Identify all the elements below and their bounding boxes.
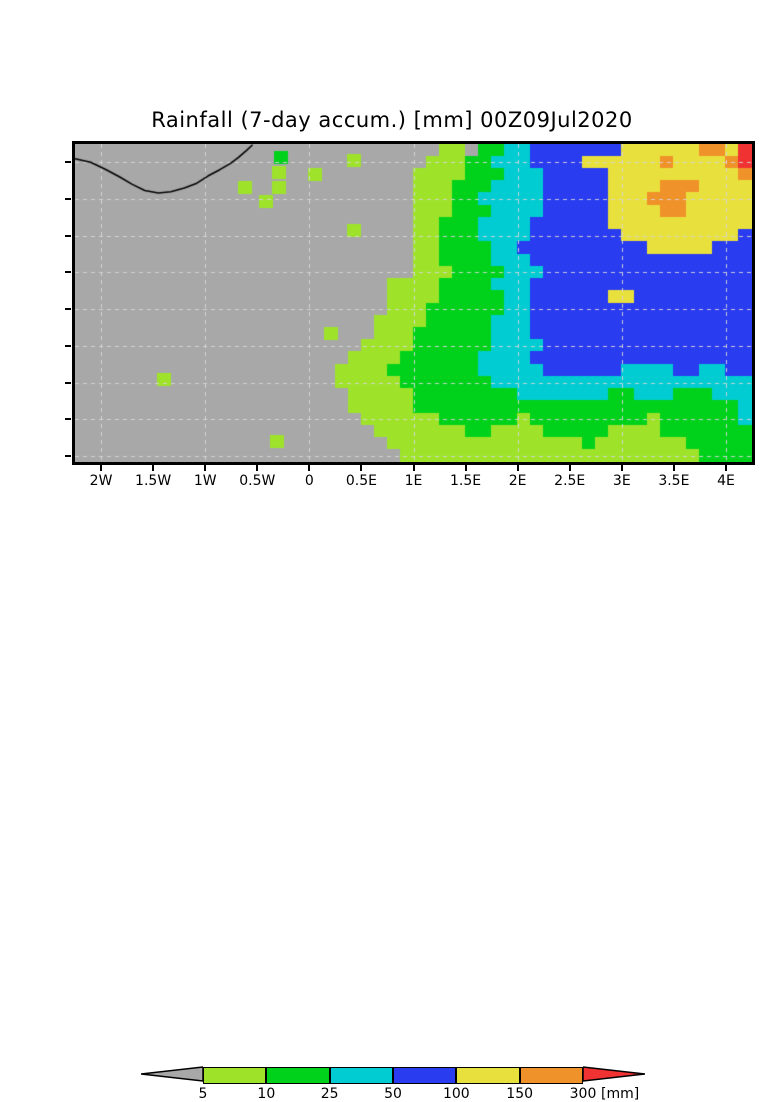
x-axis-tick-label: 0.5W <box>239 473 275 489</box>
x-axis-tick-label: 1E <box>405 473 423 489</box>
colorbar-tick-label: 100 <box>443 1086 470 1102</box>
x-axis-tick-mark <box>413 465 415 471</box>
x-axis-tick-mark <box>673 465 675 471</box>
x-axis-tick-label: 1W <box>194 473 217 489</box>
colorbar-tick-label: 300 <box>570 1086 597 1102</box>
x-axis-tick-label: 1.5E <box>450 473 481 489</box>
x-axis-tick-label: 1.5W <box>135 473 171 489</box>
x-axis-tick-label: 4E <box>717 473 735 489</box>
x-axis-tick-label: 2W <box>90 473 113 489</box>
x-axis-tick-mark <box>517 465 519 471</box>
rainfall-map-figure: Rainfall (7-day accum.) [mm] 00Z09Jul202… <box>0 0 784 612</box>
x-axis-tick-label: 2.5E <box>554 473 585 489</box>
x-axis-tick-mark <box>100 465 102 471</box>
colorbar-segment <box>520 1067 583 1084</box>
colorbar-segment <box>393 1067 456 1084</box>
colorbar-tick-label: 50 <box>384 1086 402 1102</box>
colorbar: [mm] 5102550100150300 <box>0 528 784 588</box>
colorbar-segment <box>266 1067 329 1084</box>
x-axis-tick-mark <box>256 465 258 471</box>
colorbar-tick-label: 10 <box>257 1086 275 1102</box>
x-axis-tick-mark <box>621 465 623 471</box>
x-axis-tick-mark <box>152 465 154 471</box>
x-axis-tick-mark <box>204 465 206 471</box>
x-axis-tick-label: 3E <box>613 473 631 489</box>
colorbar-segment <box>330 1067 393 1084</box>
x-axis-tick-mark <box>465 465 467 471</box>
colorbar-tick-label: 25 <box>321 1086 339 1102</box>
colorbar-segment <box>456 1067 519 1084</box>
x-axis-tick-mark <box>569 465 571 471</box>
x-axis-tick-mark <box>308 465 310 471</box>
colorbar-segment <box>203 1067 266 1084</box>
x-axis-tick-label: 0 <box>305 473 314 489</box>
colorbar-over-arrow <box>583 1061 645 1087</box>
colorbar-unit-label: [mm] <box>601 1086 639 1102</box>
x-axis-longitude-ticks: 2W1.5W1W0.5W00.5E1E1.5E2E2.5E3E3.5E4E <box>0 0 784 612</box>
colorbar-under-arrow <box>141 1061 203 1087</box>
colorbar-tick-label: 5 <box>199 1086 208 1102</box>
x-axis-tick-mark <box>725 465 727 471</box>
x-axis-tick-label: 0.5E <box>346 473 377 489</box>
colorbar-tick-label: 150 <box>506 1086 533 1102</box>
x-axis-tick-label: 2E <box>509 473 527 489</box>
x-axis-tick-mark <box>360 465 362 471</box>
x-axis-tick-label: 3.5E <box>658 473 689 489</box>
